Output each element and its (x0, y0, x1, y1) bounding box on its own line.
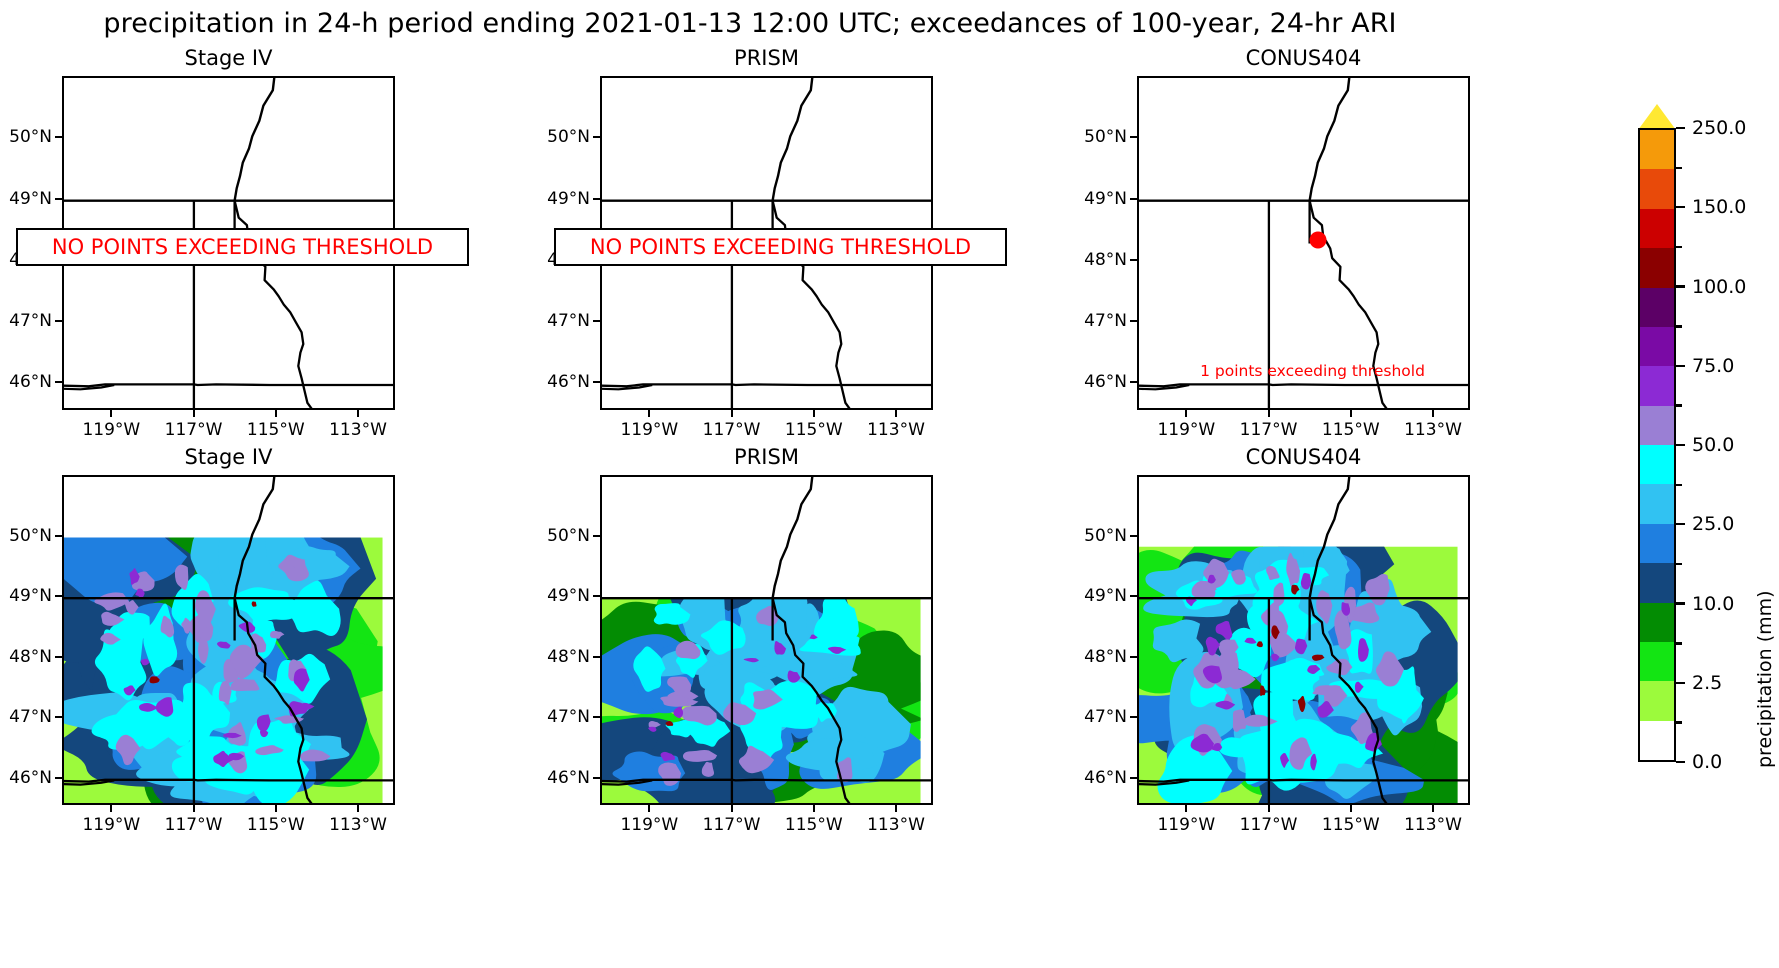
xtick-label: 119°W (1157, 815, 1215, 835)
ytick (593, 320, 600, 322)
ytick (1130, 777, 1137, 779)
ytick-label: 49°N (1065, 586, 1127, 606)
ytick-label: 48°N (528, 647, 590, 667)
xtick-label: 119°W (1157, 420, 1215, 440)
ytick-label: 50°N (0, 526, 52, 546)
xtick (1185, 805, 1187, 812)
colorbar-segment-5 (1640, 524, 1674, 563)
no-points-banner-top-prism: NO POINTS EXCEEDING THRESHOLD (554, 228, 1007, 266)
ytick-label: 46°N (0, 768, 52, 788)
xtick (357, 805, 359, 812)
no-points-banner-top-stage4: NO POINTS EXCEEDING THRESHOLD (16, 228, 469, 266)
colorbar-tick-6 (1676, 285, 1685, 287)
map-axes-bot-conus404 (1137, 475, 1470, 805)
ytick-label: 47°N (528, 311, 590, 331)
colorbar-segment-1 (1640, 681, 1674, 720)
xtick-label: 113°W (329, 815, 387, 835)
xtick-label: 115°W (247, 815, 305, 835)
colorbar-gradient (1638, 128, 1676, 762)
xtick-label: 119°W (82, 420, 140, 440)
xtick (1268, 410, 1270, 417)
xtick (1350, 410, 1352, 417)
xtick (1268, 805, 1270, 812)
colorbar-tick-label-3: 25.0 (1692, 513, 1734, 535)
xtick-label: 115°W (785, 815, 843, 835)
colorbar-tick-label-6: 100.0 (1692, 276, 1746, 298)
ytick-label: 47°N (528, 707, 590, 727)
colorbar-tick-1 (1676, 682, 1685, 684)
colorbar-tick-label-1: 2.5 (1692, 672, 1722, 694)
xtick-label: 117°W (165, 420, 223, 440)
colorbar-segment-12 (1640, 248, 1674, 287)
xtick (895, 410, 897, 417)
xtick (1350, 805, 1352, 812)
xtick-label: 117°W (165, 815, 223, 835)
xtick (813, 410, 815, 417)
ytick-label: 48°N (1065, 250, 1127, 270)
colorbar-tick-label-8: 250.0 (1692, 117, 1746, 139)
colorbar-segment-13 (1640, 209, 1674, 248)
ytick-label: 50°N (528, 127, 590, 147)
panel-title-bot-stage4: Stage IV (62, 445, 395, 469)
ytick (55, 777, 62, 779)
xtick-label: 113°W (867, 420, 925, 440)
colorbar-tick-8 (1676, 127, 1685, 129)
xtick-label: 115°W (1322, 420, 1380, 440)
colorbar-segment-11 (1640, 288, 1674, 327)
ytick (593, 381, 600, 383)
ytick (1130, 259, 1137, 261)
panel-bot-prism: PRISM50°N49°N48°N47°N46°N119°W117°W115°W… (600, 475, 933, 805)
colorbar-segment-8 (1640, 406, 1674, 445)
xtick (110, 410, 112, 417)
map-axes-bot-prism (600, 475, 933, 805)
colorbar-tick-label-4: 50.0 (1692, 434, 1734, 456)
xtick-label: 119°W (620, 420, 678, 440)
xtick (731, 805, 733, 812)
colorbar-segment-7 (1640, 445, 1674, 484)
ytick-label: 46°N (1065, 768, 1127, 788)
colorbar-tick-3 (1676, 523, 1685, 525)
xtick-label: 115°W (1322, 815, 1380, 835)
map-vector-top-conus404 (1139, 78, 1470, 410)
map-axes-bot-stage4 (62, 475, 395, 805)
xtick (813, 805, 815, 812)
ytick (55, 535, 62, 537)
colorbar-tick-5 (1676, 365, 1685, 367)
xtick-label: 117°W (1240, 420, 1298, 440)
ytick (593, 535, 600, 537)
xtick (1432, 410, 1434, 417)
colorbar-segment-10 (1640, 327, 1674, 366)
xtick-label: 113°W (1404, 420, 1462, 440)
ytick (1130, 595, 1137, 597)
ytick-label: 46°N (1065, 372, 1127, 392)
colorbar-minor-tick-11 (1676, 325, 1682, 327)
colorbar-segment-9 (1640, 366, 1674, 405)
figure-suptitle: precipitation in 24-h period ending 2021… (0, 8, 1500, 39)
colorbar-segment-4 (1640, 563, 1674, 602)
colorbar-tick-label-7: 150.0 (1692, 196, 1746, 218)
map-vector-bot-stage4 (64, 477, 395, 805)
ytick (55, 136, 62, 138)
colorbar-tick-label-2: 10.0 (1692, 593, 1734, 615)
ytick-label: 50°N (1065, 127, 1127, 147)
colorbar-segment-0 (1640, 721, 1674, 760)
ytick (593, 136, 600, 138)
xtick (731, 410, 733, 417)
panel-title-bot-conus404: CONUS404 (1137, 445, 1470, 469)
xtick (193, 805, 195, 812)
colorbar-tick-label-0: 0.0 (1692, 751, 1722, 773)
xtick-label: 119°W (82, 815, 140, 835)
xtick (110, 805, 112, 812)
exceedance-point-top-conus404-0 (1309, 232, 1326, 249)
xtick-label: 115°W (247, 420, 305, 440)
ytick (1130, 198, 1137, 200)
colorbar-minor-tick-13 (1676, 246, 1682, 248)
xtick (275, 410, 277, 417)
ytick (593, 198, 600, 200)
ytick-label: 50°N (1065, 526, 1127, 546)
ytick (593, 656, 600, 658)
ytick (593, 716, 600, 718)
xtick (895, 805, 897, 812)
xtick (193, 410, 195, 417)
panel-top-conus404: CONUS4041 points exceeding threshold50°N… (1137, 76, 1470, 410)
map-vector-bot-prism (602, 477, 933, 805)
panel-title-top-conus404: CONUS404 (1137, 46, 1470, 70)
map-axes-top-conus404: 1 points exceeding threshold (1137, 76, 1470, 410)
panel-title-top-stage4: Stage IV (62, 46, 395, 70)
xtick (648, 805, 650, 812)
panel-title-bot-prism: PRISM (600, 445, 933, 469)
colorbar-segment-15 (1640, 130, 1674, 169)
xtick (275, 805, 277, 812)
ytick-label: 47°N (0, 707, 52, 727)
colorbar-minor-tick-5 (1676, 563, 1682, 565)
panel-bot-conus404: CONUS40450°N49°N48°N47°N46°N119°W117°W11… (1137, 475, 1470, 805)
xtick-label: 117°W (1240, 815, 1298, 835)
xtick-label: 113°W (867, 815, 925, 835)
ytick (1130, 716, 1137, 718)
ytick-label: 49°N (528, 586, 590, 606)
xtick (357, 410, 359, 417)
figure-canvas: precipitation in 24-h period ending 2021… (0, 0, 1779, 968)
ytick-label: 50°N (528, 526, 590, 546)
ytick (593, 595, 600, 597)
colorbar-segment-6 (1640, 484, 1674, 523)
ytick (55, 656, 62, 658)
colorbar-minor-tick-3 (1676, 642, 1682, 644)
ytick-label: 49°N (0, 189, 52, 209)
colorbar-segment-3 (1640, 603, 1674, 642)
xtick-label: 117°W (703, 815, 761, 835)
xtick-label: 117°W (703, 420, 761, 440)
ytick-label: 49°N (528, 189, 590, 209)
colorbar-minor-tick-9 (1676, 404, 1682, 406)
colorbar: 0.02.510.025.050.075.0100.0150.0250.0 pr… (1638, 128, 1758, 778)
xtick (1432, 805, 1434, 812)
ytick-label: 48°N (1065, 647, 1127, 667)
colorbar-tick-2 (1676, 602, 1685, 604)
ytick (1130, 656, 1137, 658)
ytick-label: 46°N (0, 372, 52, 392)
xtick (1185, 410, 1187, 417)
ytick-label: 46°N (528, 372, 590, 392)
ytick (1130, 535, 1137, 537)
colorbar-segment-14 (1640, 169, 1674, 208)
colorbar-minor-tick-7 (1676, 484, 1682, 486)
xtick-label: 113°W (1404, 815, 1462, 835)
ytick-label: 50°N (0, 127, 52, 147)
ytick (1130, 381, 1137, 383)
colorbar-tick-label-5: 75.0 (1692, 355, 1734, 377)
colorbar-label: precipitation (mm) (1754, 590, 1776, 768)
colorbar-segment-2 (1640, 642, 1674, 681)
ytick-label: 49°N (0, 586, 52, 606)
ytick-label: 49°N (1065, 189, 1127, 209)
colorbar-tick-7 (1676, 206, 1685, 208)
ytick (55, 595, 62, 597)
ytick (55, 198, 62, 200)
xtick (648, 410, 650, 417)
exceedance-count-label-top-conus404: 1 points exceeding threshold (1161, 362, 1464, 380)
panel-title-top-prism: PRISM (600, 46, 933, 70)
ytick-label: 47°N (1065, 707, 1127, 727)
colorbar-extend-arrow (1638, 104, 1676, 130)
panel-bot-stage4: Stage IV50°N49°N48°N47°N46°N119°W117°W11… (62, 475, 395, 805)
colorbar-minor-tick-15 (1676, 167, 1682, 169)
ytick (1130, 320, 1137, 322)
ytick (55, 716, 62, 718)
ytick-label: 47°N (0, 311, 52, 331)
ytick (1130, 136, 1137, 138)
ytick (55, 320, 62, 322)
colorbar-tick-0 (1676, 761, 1685, 763)
colorbar-tick-4 (1676, 444, 1685, 446)
colorbar-minor-tick-1 (1676, 721, 1682, 723)
map-vector-bot-conus404 (1139, 477, 1470, 805)
xtick-label: 115°W (785, 420, 843, 440)
ytick (55, 381, 62, 383)
ytick-label: 47°N (1065, 311, 1127, 331)
ytick (593, 777, 600, 779)
ytick-label: 48°N (0, 647, 52, 667)
xtick-label: 119°W (620, 815, 678, 835)
ytick-label: 46°N (528, 768, 590, 788)
xtick-label: 113°W (329, 420, 387, 440)
